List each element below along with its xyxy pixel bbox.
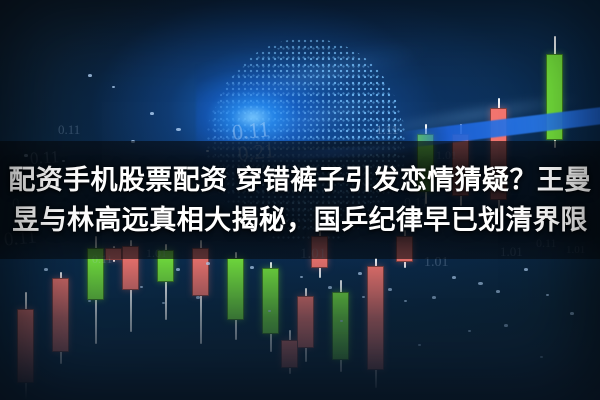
fleck-0 bbox=[88, 74, 92, 77]
candlestick-16 bbox=[546, 36, 563, 148]
fleck-1 bbox=[112, 86, 115, 88]
banner-image: 0.110.110.1100.110.211.011.011.010.111.0… bbox=[0, 0, 600, 400]
headline-line-1: 配资手机股票配资 穿错裤子引发恋情猜疑？王曼 bbox=[8, 160, 591, 200]
foreground-floor-shade bbox=[0, 250, 600, 400]
price-digit-13: 1.11 bbox=[376, 122, 398, 138]
page-title: 配资手机股票配资 穿错裤子引发恋情猜疑？王曼 昱与林高远真相大揭秘，国乒纪律早已… bbox=[0, 141, 600, 259]
price-digit-1: 0.11 bbox=[58, 122, 80, 138]
fleck-4 bbox=[150, 112, 154, 115]
headline-line-2: 昱与林高远真相大揭秘，国乒纪律早已划清界限 bbox=[12, 200, 587, 240]
